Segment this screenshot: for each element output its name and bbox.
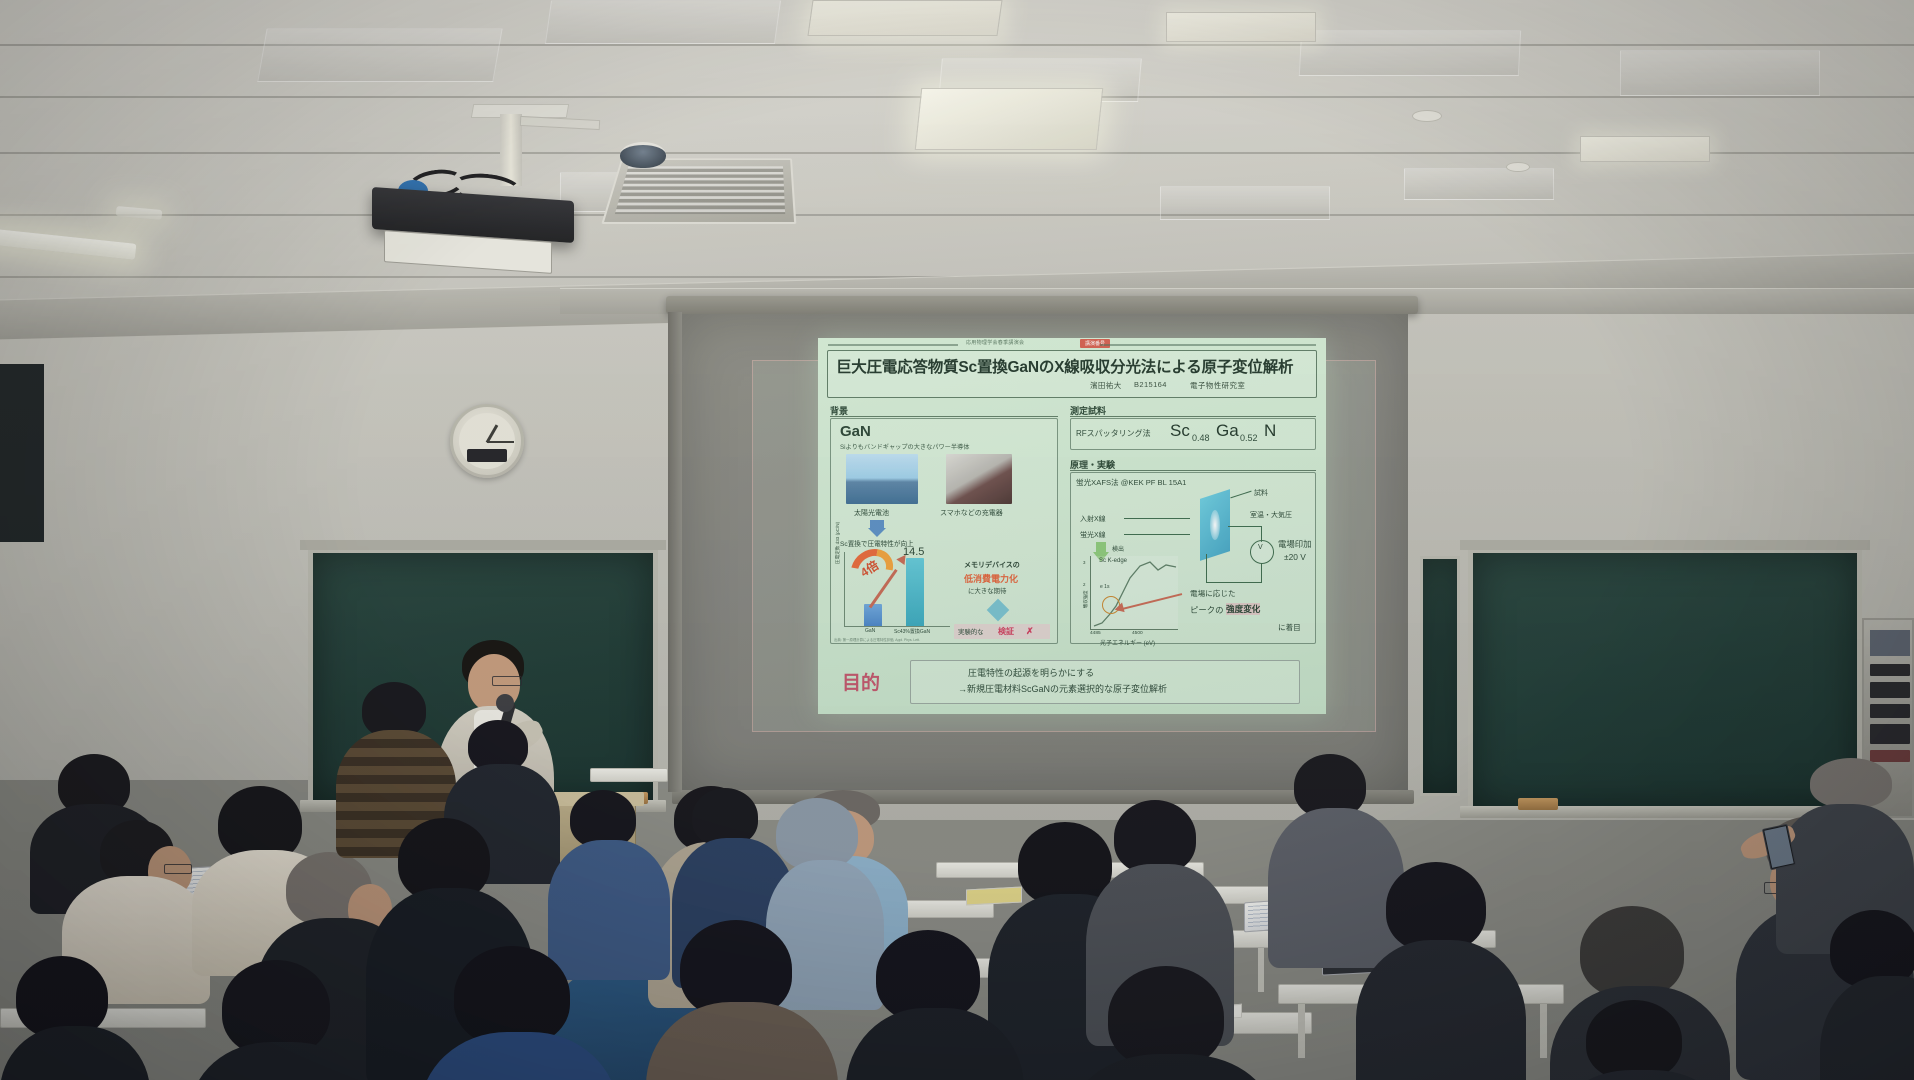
torso: [548, 840, 670, 980]
rack-slot: [1870, 664, 1910, 676]
section-rule: [1070, 416, 1316, 417]
right-chalk-eraser: [1518, 798, 1558, 810]
material-name: GaN: [840, 423, 871, 440]
slide-header-rule: [1100, 344, 1316, 346]
xafs-xlabel: 光子エネルギー (eV): [1100, 638, 1155, 647]
handout-paper: [966, 887, 1022, 906]
xafs-ytick-2: 2: [1083, 582, 1085, 587]
torso: [0, 1026, 150, 1080]
hair: [1386, 862, 1486, 952]
observation-line1: 電場に応じた: [1190, 588, 1236, 599]
ceiling-light-panel: [915, 88, 1104, 150]
xafs-xtick-4500: 4500: [1132, 631, 1143, 636]
field-label: 電場印加: [1278, 538, 1312, 550]
xafs-ytick-1: 1: [1083, 604, 1085, 609]
slide-header-rule: [828, 344, 958, 346]
hair: [1114, 800, 1196, 874]
projected-slide: 応用物理学会春季講演会 講演番号 巨大圧電応答物質Sc置換GaNのX線吸収分光法…: [818, 338, 1326, 714]
expectation-line3: に大きな期待: [968, 586, 1006, 595]
circuit-wire-bottom-right: [1261, 563, 1262, 583]
smoke-detector-icon: [1506, 162, 1530, 172]
fluorescent-beam-line: [1124, 534, 1190, 535]
left-blackboard-rail: [300, 540, 666, 550]
podium-side-table: [590, 768, 668, 782]
voltage-symbol: V: [1258, 544, 1263, 551]
bar-category-gan: GaN: [865, 628, 875, 634]
slide-author: 濱田祐大: [1090, 380, 1122, 391]
beam-spot: [1210, 510, 1220, 540]
glasses: [164, 864, 192, 874]
verification-prefix: 実験的な: [958, 627, 984, 636]
xafs-ytick-3: 3: [1083, 560, 1085, 565]
verification-word: 検証: [998, 626, 1014, 637]
bar-chart-yaxis: [844, 552, 845, 626]
dome-camera-icon: [620, 142, 666, 168]
verification-mark: ✗: [1026, 626, 1034, 637]
ceiling-tile: [1620, 50, 1820, 96]
ceiling-light-panel: [1166, 12, 1316, 42]
slide-lab: 電子物性研究室: [1190, 380, 1245, 391]
clock-minute-hand: [487, 441, 514, 443]
formula-ga: Ga: [1216, 421, 1239, 441]
rack-slot-indicator: [1870, 750, 1910, 762]
desk-leg: [1258, 948, 1264, 992]
purpose-label: 目的: [842, 668, 880, 695]
observation-line2-prefix: ピークの: [1190, 604, 1224, 616]
electron-state-label: e 1s: [1100, 584, 1109, 590]
hair: [1108, 966, 1224, 1068]
incident-beam-line: [1124, 518, 1190, 519]
incident-beam-label: 入射X線: [1080, 514, 1106, 524]
rack-monitor: [1870, 630, 1910, 656]
slide-conference-label: 応用物理学会春季講演会: [966, 339, 1024, 346]
expectation-line2: 低消費電力化: [964, 572, 1018, 585]
ceiling-light-panel: [1580, 136, 1710, 162]
vent-slats: [615, 166, 785, 214]
ceiling-light-panel: [807, 0, 1002, 36]
material-subtitle: Siよりもバンドギャップの大きなパワー半導体: [840, 442, 969, 451]
detect-label: 検出: [1112, 544, 1124, 553]
gray-hair: [1810, 758, 1892, 808]
wall-clock: [450, 404, 524, 478]
sample-label: 試料: [1254, 488, 1268, 498]
bar-category-scgan: Sc43%置換GaN: [894, 628, 930, 635]
projector-pole: [500, 114, 522, 186]
photo-caption-charger: スマホなどの充電器: [940, 508, 1003, 518]
xafs-spectrum-curve: [1090, 556, 1178, 630]
expectation-line1: メモリデバイスの: [964, 560, 1020, 570]
field-value: ±20 V: [1284, 552, 1306, 562]
screen-left-edge: [668, 312, 682, 792]
charger-photo: [946, 454, 1012, 504]
right-blackboard: [1468, 548, 1862, 812]
rack-slot: [1870, 682, 1910, 698]
lecture-hall-photo: 応用物理学会春季講演会 講演番号 巨大圧電応答物質Sc置換GaNのX線吸収分光法…: [0, 0, 1914, 1080]
torso: [1356, 940, 1526, 1080]
bar-gan: [864, 604, 882, 626]
ceiling-tile: [1160, 186, 1330, 220]
slide-student-id: B215164: [1134, 380, 1167, 389]
bar-chart-ylabel: 圧電定数 d33 (pC/N): [835, 522, 841, 564]
circuit-wire-top: [1228, 526, 1262, 527]
experiment-technique: 蛍光XAFS法 @KEK PF BL 15A1: [1076, 477, 1186, 488]
rack-slot: [1870, 724, 1910, 744]
phone-screen: [1764, 826, 1793, 868]
torso: [1268, 808, 1404, 968]
ceiling-tile: [545, 0, 781, 44]
formula-n: N: [1264, 421, 1276, 441]
photo-caption-solar: 太陽光電池: [854, 508, 889, 518]
bar-chart-xaxis: [844, 626, 950, 627]
purpose-line2: →新規圧電材料ScGaNの元素選択的な原子変位解析: [958, 682, 1167, 695]
section-rule: [1070, 470, 1316, 471]
formula-sc: Sc: [1170, 421, 1190, 441]
conditions-label: 室温・大気圧: [1250, 510, 1292, 520]
hair: [454, 946, 570, 1046]
slide-title: 巨大圧電応答物質Sc置換GaNのX線吸収分光法による原子変位解析: [836, 355, 1293, 377]
clock-date-window: [467, 449, 507, 462]
window-frame: [0, 356, 48, 364]
rack-slot: [1870, 704, 1910, 718]
formula-sc-subscript: 0.48: [1192, 433, 1210, 443]
desk-leg: [1540, 1004, 1547, 1058]
formula-ga-subscript: 0.52: [1240, 433, 1258, 443]
desk-leg: [1298, 1004, 1305, 1058]
hair: [1580, 906, 1684, 998]
bar-scgan: [906, 558, 924, 626]
smoke-detector-icon: [1412, 110, 1442, 122]
sample-method: RFスパッタリング法: [1076, 428, 1151, 439]
presenter-glasses: [492, 676, 522, 686]
right-blackboard-rail: [1460, 540, 1870, 550]
source-note: 出典: 第一原理計算による圧電特性評価, Appl. Phys. Lett.: [834, 637, 920, 642]
blue-down-arrow-tip: [868, 528, 886, 537]
observation-line2-word: 強度変化: [1226, 603, 1260, 615]
observation-line3: に着目: [1278, 622, 1301, 633]
left-window-dark: [0, 362, 44, 542]
hair: [1586, 1000, 1682, 1080]
circuit-wire-left: [1206, 554, 1207, 583]
solar-panel-photo: [846, 454, 918, 504]
microphone-head: [496, 694, 514, 712]
fluorescent-beam-label: 蛍光X線: [1080, 530, 1106, 540]
hvac-ceiling-vent: [601, 158, 796, 224]
ceiling-grid-line: [0, 214, 1914, 216]
ceiling-tile: [257, 28, 503, 82]
circuit-wire-bottom: [1206, 582, 1262, 583]
ceiling-tile: [1404, 168, 1554, 200]
purpose-line1: 圧電特性の起源を明らかにする: [968, 666, 1094, 679]
xafs-xtick-4485: 4485: [1090, 631, 1101, 636]
projection-screen-case: [666, 296, 1418, 314]
right-blackboard-side-panel: [1420, 556, 1460, 796]
section-rule: [830, 416, 1058, 417]
ceiling-tile: [1299, 30, 1521, 76]
